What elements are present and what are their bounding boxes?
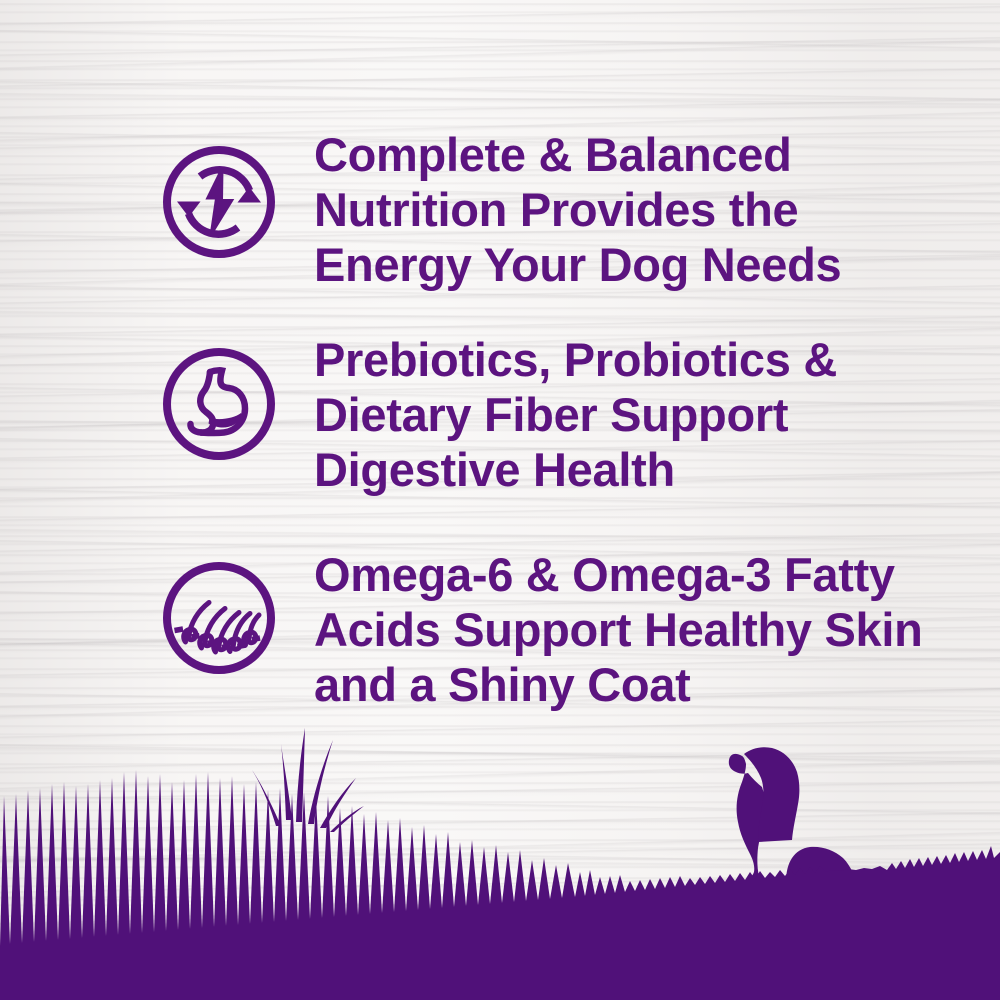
- marketing-graphic: Complete & Balanced Nutrition Provides t…: [0, 0, 1000, 1000]
- benefit-item-skin-coat: Omega-6 & Omega-3 Fatty Acids Support He…: [160, 547, 923, 712]
- grass-blade-overlay: [0, 950, 1000, 1000]
- benefit-item-energy: Complete & Balanced Nutrition Provides t…: [160, 127, 841, 292]
- benefit-text-skin-coat: Omega-6 & Omega-3 Fatty Acids Support He…: [314, 547, 923, 712]
- benefit-text-energy: Complete & Balanced Nutrition Provides t…: [314, 127, 841, 292]
- benefit-text-digestive: Prebiotics, Probiotics & Dietary Fiber S…: [314, 332, 837, 497]
- benefit-item-digestive: Prebiotics, Probiotics & Dietary Fiber S…: [160, 332, 837, 497]
- energy-cycle-icon: [160, 143, 278, 261]
- fur-follicle-icon: [160, 559, 278, 677]
- stomach-icon: [160, 345, 278, 463]
- foreground-scene: [0, 700, 1000, 1000]
